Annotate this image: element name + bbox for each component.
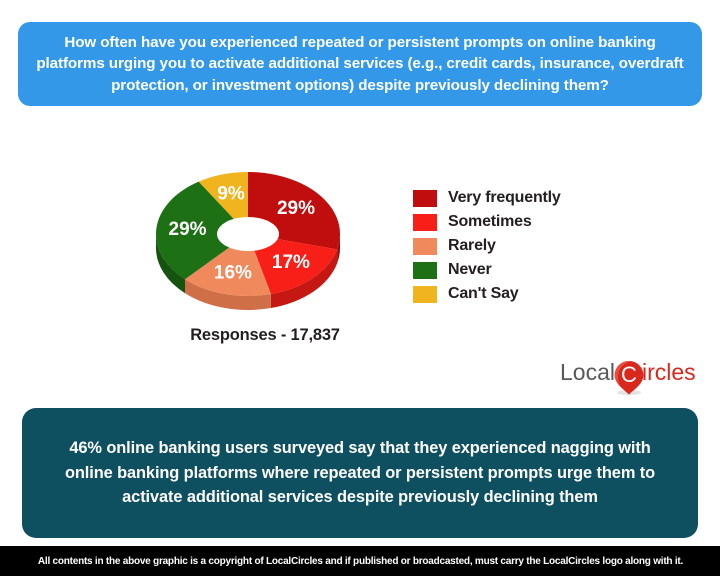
legend-item-label: Never	[448, 261, 491, 279]
legend-item-label: Can't Say	[448, 285, 518, 303]
legend-item: Rarely	[413, 234, 561, 258]
legend-color-swatch	[413, 190, 437, 207]
legend-item: Very frequently	[413, 186, 561, 210]
legend-item-label: Very frequently	[448, 189, 561, 207]
legend-color-swatch	[413, 214, 437, 231]
legend-item: Never	[413, 258, 561, 282]
logo-text-local: Local	[560, 359, 615, 385]
donut-chart-svg: 29%17%16%29%9%	[148, 148, 348, 316]
copyright-bar: All contents in the above graphic is a c…	[0, 546, 720, 576]
donut-hole	[217, 217, 279, 251]
responses-count: Responses - 17,837	[120, 326, 410, 345]
map-pin-icon: C	[615, 361, 644, 395]
question-banner: How often have you experienced repeated …	[18, 22, 702, 106]
legend-color-swatch	[413, 262, 437, 279]
localcircles-logo-svg: Local C ircles	[560, 356, 708, 396]
legend-item: Sometimes	[413, 210, 561, 234]
localcircles-logo[interactable]: Local C ircles	[560, 356, 708, 396]
logo-pin-letter: C	[621, 362, 637, 387]
copyright-text: All contents in the above graphic is a c…	[37, 556, 682, 567]
legend-color-swatch	[413, 286, 437, 303]
chart-legend: Very frequentlySometimesRarelyNeverCan't…	[413, 186, 561, 306]
donut-slice-label: 29%	[169, 219, 207, 240]
legend-item-label: Rarely	[448, 237, 496, 255]
chart-area: 29%17%16%29%9% Responses - 17,837 Very f…	[0, 120, 720, 360]
insight-text: 46% online banking users surveyed say th…	[48, 436, 672, 510]
question-text: How often have you experienced repeated …	[32, 32, 688, 97]
donut-slice-label: 29%	[277, 198, 315, 219]
legend-item-label: Sometimes	[448, 213, 532, 231]
donut-chart: 29%17%16%29%9%	[148, 148, 348, 316]
infographic-page: How often have you experienced repeated …	[0, 0, 720, 576]
donut-slice-label: 16%	[214, 263, 252, 284]
legend-item: Can't Say	[413, 282, 561, 306]
donut-slice-label: 17%	[272, 252, 310, 273]
logo-text-ircles: ircles	[642, 359, 696, 385]
donut-slice-label: 9%	[217, 184, 245, 205]
insight-banner: 46% online banking users surveyed say th…	[22, 408, 698, 538]
legend-color-swatch	[413, 238, 437, 255]
